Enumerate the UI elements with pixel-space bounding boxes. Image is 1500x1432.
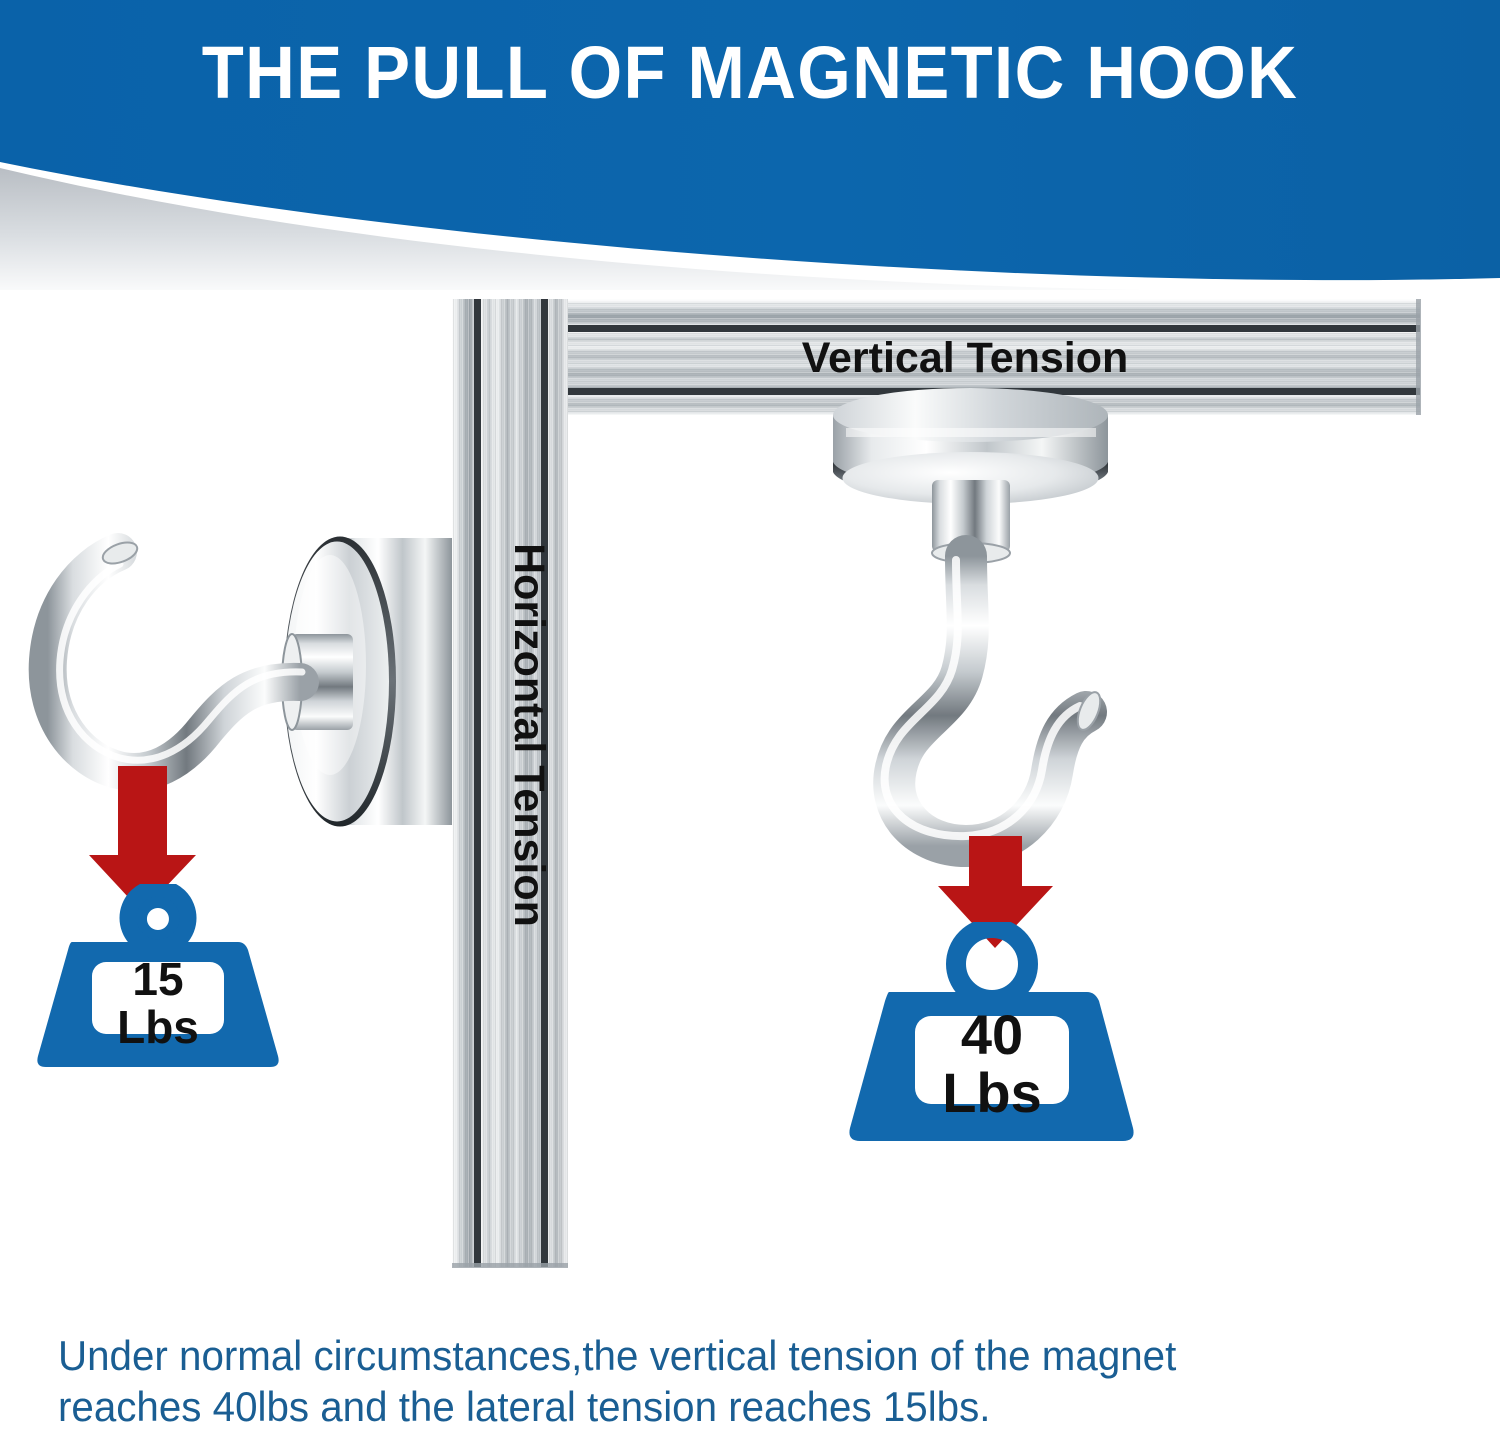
weight-unit: Lbs xyxy=(32,1004,284,1050)
caption-line-1: Under normal circumstances,the vertical … xyxy=(58,1330,1402,1381)
caption: Under normal circumstances,the vertical … xyxy=(58,1330,1402,1432)
left-magnetic-hook-assembly xyxy=(48,537,452,913)
vertical-beam-label: Horizontal Tension xyxy=(505,543,553,927)
diagram-stage: Vertical Tension Horizontal Tension xyxy=(0,0,1500,1300)
hook-right xyxy=(894,556,1086,846)
right-magnetic-hook-assembly xyxy=(833,388,1108,948)
magnetic-hook-diagram: Vertical Tension Horizontal Tension xyxy=(0,0,1500,1300)
caption-line-2: reaches 40lbs and the lateral tension re… xyxy=(58,1381,1402,1432)
horizontal-beam-label: Vertical Tension xyxy=(802,334,1129,382)
weight-value: 40 xyxy=(845,1007,1139,1063)
weight-value: 15 xyxy=(32,956,284,1002)
weight-badge-horizontal: 15 Lbs xyxy=(32,884,284,1074)
weight-unit: Lbs xyxy=(845,1065,1139,1121)
weight-badge-vertical: 40 Lbs xyxy=(845,922,1139,1150)
